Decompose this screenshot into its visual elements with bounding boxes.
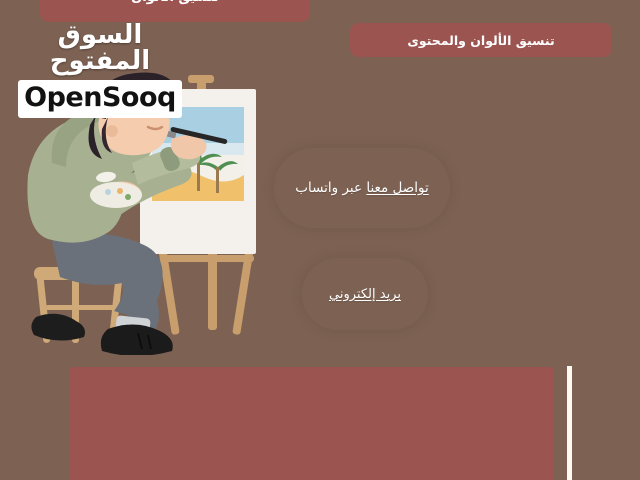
contact-email-label-underlined: بريد إلكتروني — [329, 287, 401, 302]
banner-top-right-label: تنسيق الألوان والمحتوى — [407, 33, 554, 48]
painter-illustration — [12, 55, 282, 355]
vertical-divider — [567, 366, 572, 480]
banner-bottom — [69, 367, 554, 480]
screenshot-canvas: تنسيق الألوان تنسيق الألوان والمحتوى — [0, 0, 640, 480]
contact-whatsapp-button[interactable]: تواصل معنا عبر واتساب — [274, 148, 450, 228]
contact-email-label: بريد إلكتروني — [329, 287, 401, 302]
contact-email-button[interactable]: بريد إلكتروني — [302, 258, 428, 330]
banner-top-left-label: تنسيق الألوان — [131, 0, 219, 5]
banner-top-right: تنسيق الألوان والمحتوى — [350, 23, 612, 57]
contact-whatsapp-label: تواصل معنا عبر واتساب — [295, 180, 428, 196]
contact-whatsapp-label-underlined: تواصل معنا — [366, 180, 428, 196]
banner-top-left: تنسيق الألوان — [40, 0, 310, 22]
contact-whatsapp-label-rest: عبر واتساب — [295, 180, 366, 196]
